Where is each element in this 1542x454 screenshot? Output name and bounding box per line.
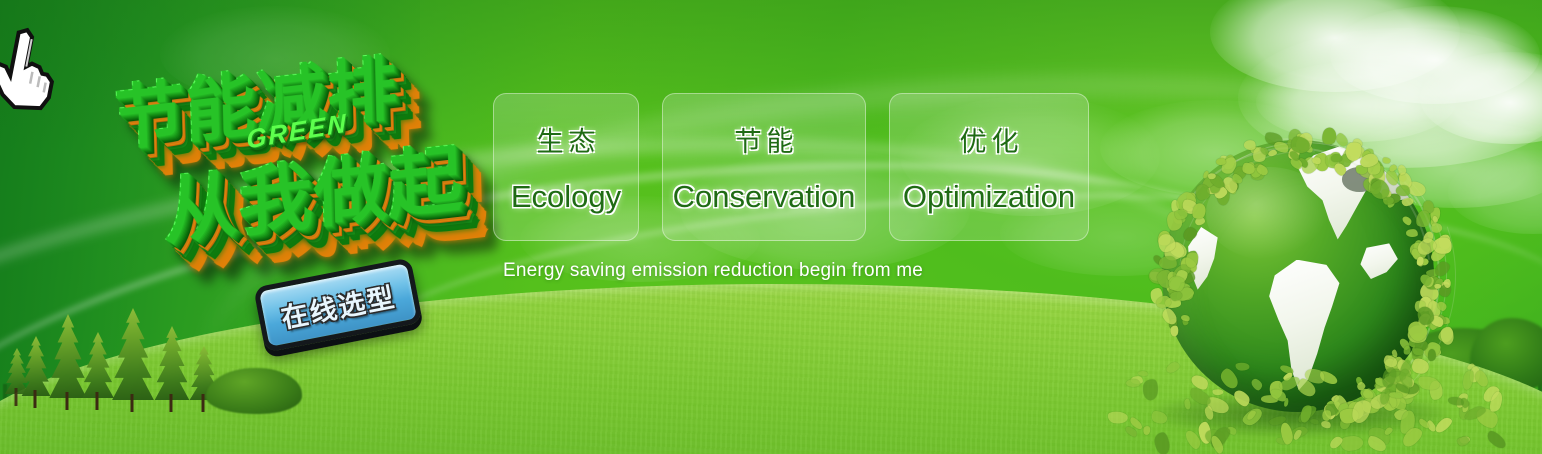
- feature-card-title-en: Optimization: [903, 179, 1075, 215]
- banner-subtitle: Energy saving emission reduction begin f…: [503, 260, 923, 282]
- continent-greenland: [1374, 151, 1423, 200]
- feature-card-list: 生态 Ecology 节能 Conservation 优化 Optimizati…: [493, 93, 1089, 241]
- feature-card-conservation[interactable]: 节能 Conservation: [662, 93, 866, 241]
- feature-card-title-en: Conservation: [673, 179, 856, 215]
- continent-shadow-patch: [1342, 167, 1377, 191]
- feature-card-title-cn: 生态: [532, 120, 601, 159]
- globe-sphere: [1162, 140, 1434, 412]
- continent-south-america: [1260, 260, 1352, 391]
- feature-card-title-en: Ecology: [511, 179, 621, 215]
- feature-card-title-cn: 优化: [955, 120, 1024, 159]
- feature-card-optimization[interactable]: 优化 Optimization: [889, 93, 1089, 241]
- continent-right-patch: [1358, 243, 1402, 287]
- headline-logo: 节能减排 GREEN 从我做起: [100, 29, 497, 288]
- globe-highlight: [1206, 167, 1331, 259]
- feature-card-ecology[interactable]: 生态 Ecology: [493, 93, 639, 241]
- leafy-globe-icon: [1148, 130, 1448, 430]
- bush-icon: [206, 368, 302, 414]
- green-energy-banner: 节能减排 GREEN 从我做起 在线选型 生态 Ecology 节能 Conse…: [0, 0, 1542, 454]
- feature-card-title-cn: 节能: [730, 120, 799, 159]
